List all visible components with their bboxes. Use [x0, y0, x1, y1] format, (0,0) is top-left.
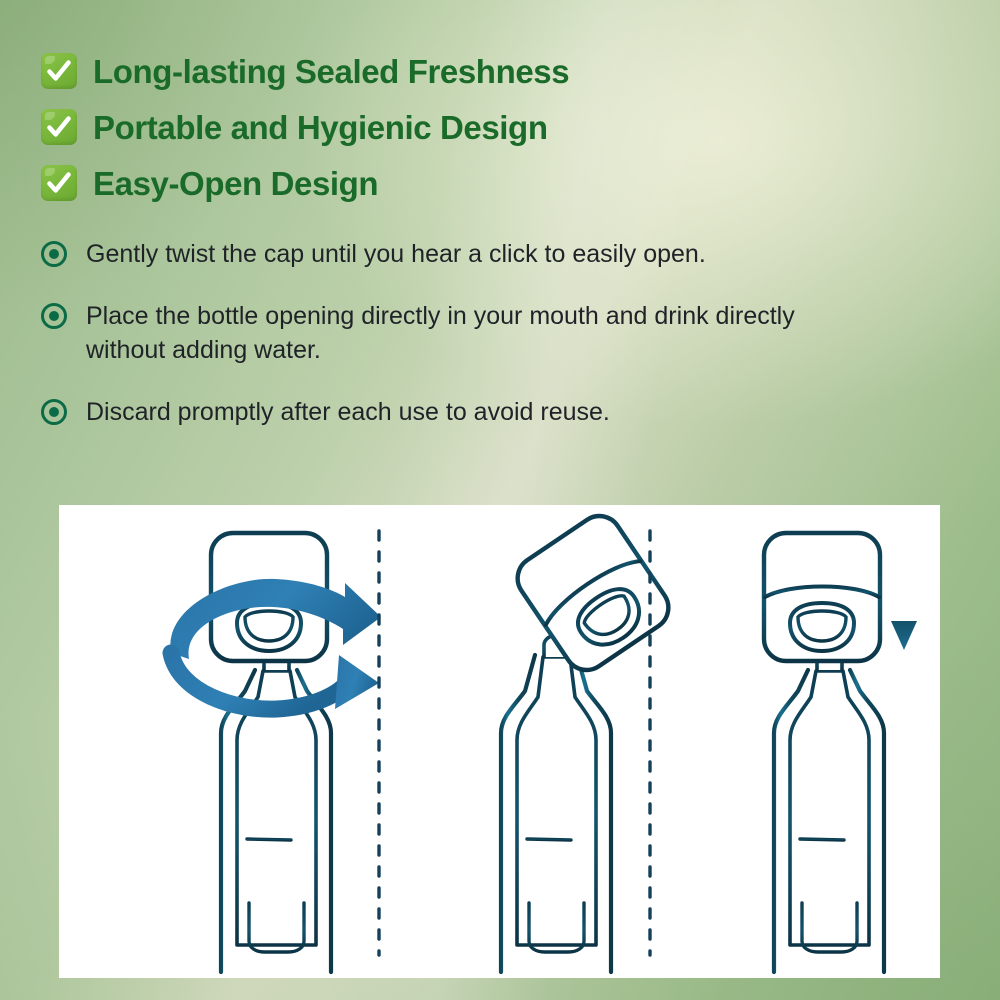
- poster-root: Long-lasting Sealed Freshness Portable a…: [0, 0, 1000, 1000]
- instruction-item: Discard promptly after each use to avoid…: [41, 395, 831, 429]
- illustration-step-twist: [170, 533, 381, 972]
- instruction-list: Gently twist the cap until you hear a cl…: [41, 237, 831, 429]
- feature-item: Portable and Hygienic Design: [41, 99, 741, 155]
- feature-item: Easy-Open Design: [41, 155, 741, 211]
- instruction-text: Place the bottle opening directly in you…: [86, 299, 806, 367]
- check-square-icon: [41, 165, 77, 201]
- down-arrow-icon: [891, 565, 917, 650]
- instruction-item: Gently twist the cap until you hear a cl…: [41, 237, 831, 271]
- illustration-panel: [59, 505, 940, 978]
- instruction-text: Discard promptly after each use to avoid…: [86, 395, 610, 429]
- feature-label: Long-lasting Sealed Freshness: [93, 55, 569, 88]
- feature-label: Easy-Open Design: [93, 167, 378, 200]
- instruction-item: Place the bottle opening directly in you…: [41, 299, 831, 367]
- feature-item: Long-lasting Sealed Freshness: [41, 43, 741, 99]
- feature-label: Portable and Hygienic Design: [93, 111, 548, 144]
- radio-dot-icon: [41, 303, 67, 329]
- feature-list: Long-lasting Sealed Freshness Portable a…: [41, 43, 741, 211]
- illustration-step-replace: [764, 533, 917, 972]
- radio-dot-icon: [41, 241, 67, 267]
- instruction-text: Gently twist the cap until you hear a cl…: [86, 237, 706, 271]
- illustration-svg: [59, 505, 940, 978]
- check-square-icon: [41, 109, 77, 145]
- check-square-icon: [41, 53, 77, 89]
- bottle-cap-tilted: [509, 508, 677, 679]
- bottle-cap: [764, 533, 880, 661]
- radio-dot-icon: [41, 399, 67, 425]
